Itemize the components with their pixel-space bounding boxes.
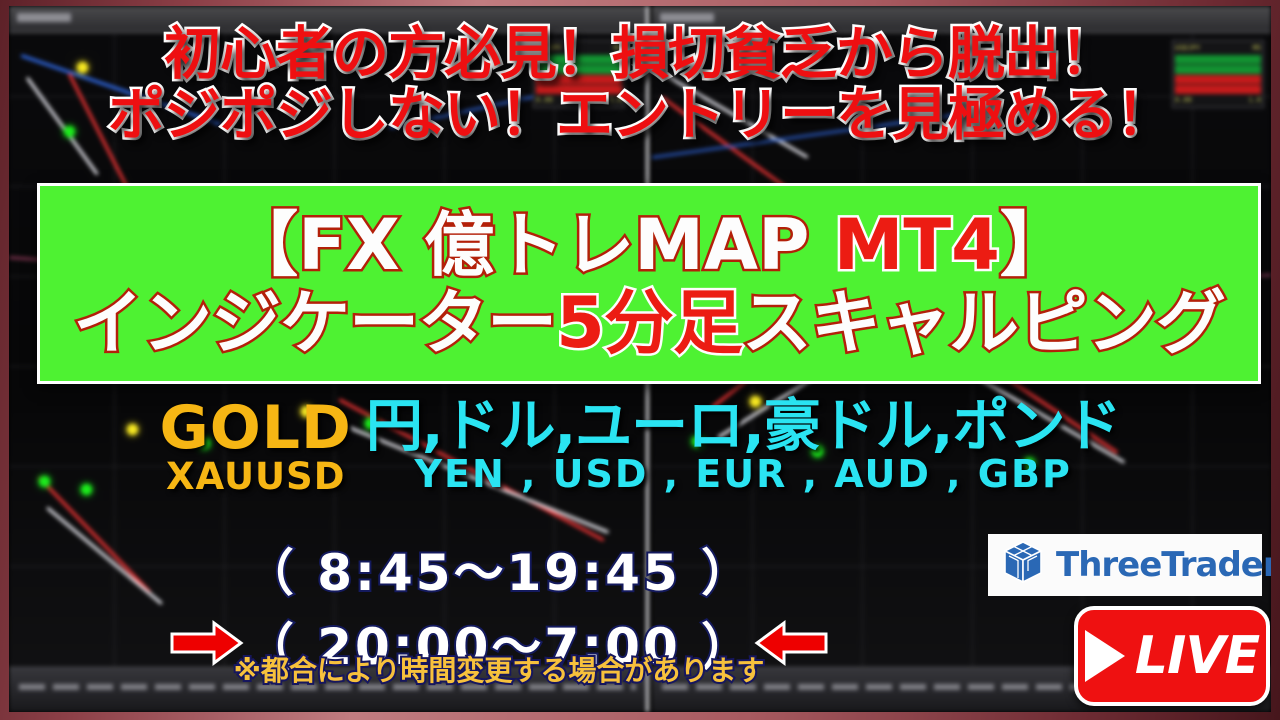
live-label: LIVE (1135, 626, 1259, 686)
banner-line-2: インジケーター5分足スキャルピング (73, 288, 1225, 358)
cube-logo-icon (998, 538, 1048, 592)
headline-line-2: ポジポジしない！エントリーを見極める！ (9, 85, 1271, 146)
currencies-english: YEN , USD , EUR , AUD , GBP (414, 452, 1071, 496)
play-triangle-icon (1085, 630, 1125, 682)
currencies-japanese: 円,ドル,ユーロ,豪ドル,ポンド (366, 393, 1121, 459)
banner-line1-red: MT4 (834, 204, 1000, 286)
banner-line-1: 【FX 億トレMAP MT4】 (228, 210, 1070, 280)
gold-block: GOLD XAUUSD (160, 398, 352, 495)
instrument-list: GOLD XAUUSD 円,ドル,ユーロ,豪ドル,ポンド YEN , USD ,… (9, 398, 1271, 495)
thumbnail-canvas: USDJPYM5 0.001.0 (0, 0, 1280, 720)
currency-block: 円,ドル,ユーロ,豪ドル,ポンド YEN , USD , EUR , AUD ,… (366, 398, 1121, 493)
banner-line2-white: インジケーター (73, 282, 556, 364)
inner-content-area: USDJPYM5 0.001.0 (9, 6, 1271, 712)
title-green-banner: 【FX 億トレMAP MT4】 インジケーター5分足スキャルピング (37, 183, 1261, 384)
banner-line1-white: 【FX 億トレMAP (228, 204, 834, 286)
schedule-row-1: （ 8:45〜19:45 ） (9, 533, 989, 605)
gold-symbol: XAUUSD (166, 455, 345, 498)
schedule-note: ※都合により時間変更する場合があります (9, 649, 989, 689)
headline-line-1: 初心者の方必見！損切貧乏から脱出！ (9, 24, 1271, 85)
broker-name: ThreeTrader (1056, 545, 1271, 585)
live-badge[interactable]: LIVE (1074, 606, 1270, 706)
session-1-time: （ 8:45〜19:45 ） (244, 533, 754, 605)
banner-line2-red: 5分足 (556, 282, 742, 364)
banner-line2-white-tail: スキャルピング (742, 282, 1225, 364)
banner-line1-white-tail: 】 (1000, 204, 1070, 286)
headline-block: 初心者の方必見！損切貧乏から脱出！ ポジポジしない！エントリーを見極める！ (9, 24, 1271, 146)
broker-logo[interactable]: ThreeTrader (988, 534, 1262, 596)
gold-label: GOLD (160, 393, 352, 463)
